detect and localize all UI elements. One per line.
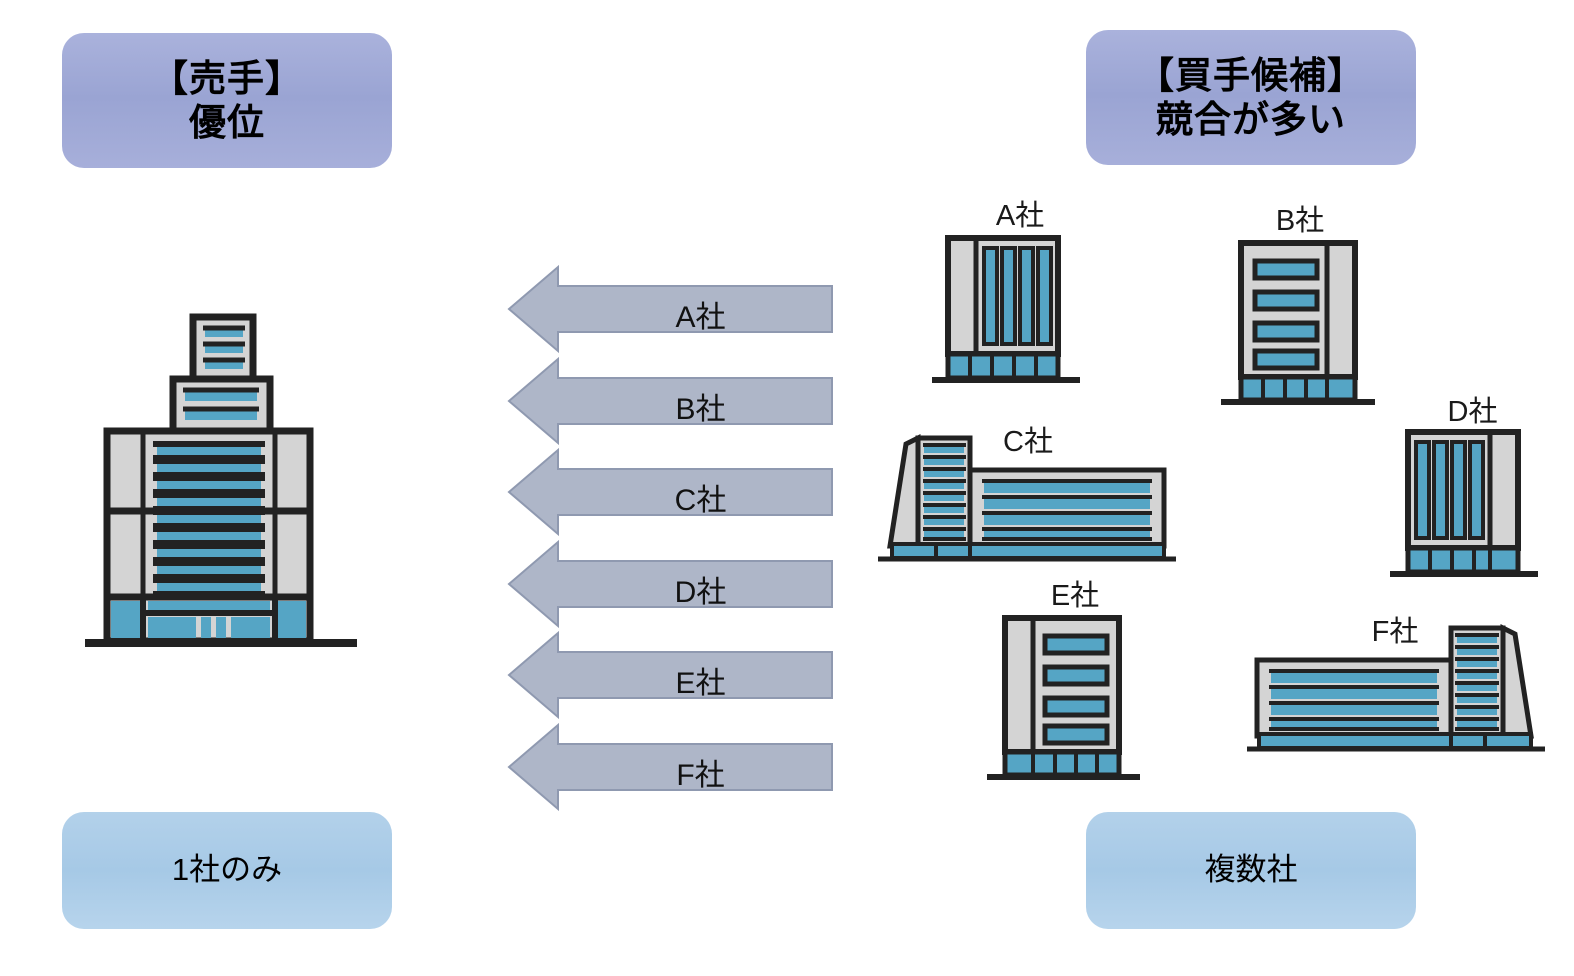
arrow-a: A社 xyxy=(508,266,833,352)
diagram-canvas: 【売手】 優位 【買手候補】 競合が多い 1社のみ 複数社 A社B社C社D社E社… xyxy=(0,0,1574,976)
buyer-building-e: E社 xyxy=(985,572,1165,787)
buyer-footer-box: 複数社 xyxy=(1086,812,1416,929)
arrow-e: E社 xyxy=(508,632,833,718)
seller-header-box: 【売手】 優位 xyxy=(62,33,392,168)
arrow-d: D社 xyxy=(508,541,833,627)
arrow-shape xyxy=(508,358,833,444)
seller-header-line1: 【売手】 xyxy=(151,58,303,99)
seller-footer-box: 1社のみ xyxy=(62,812,392,929)
buyer-building-b: B社 xyxy=(1205,197,1395,412)
arrow-f: F社 xyxy=(508,724,833,810)
office-block-horizontal-windows-icon xyxy=(1205,237,1395,412)
office-block-horizontal-windows-mirrored-icon xyxy=(985,612,1165,787)
arrow-shape xyxy=(508,449,833,535)
seller-footer-label: 1社のみ xyxy=(172,852,282,889)
skyscraper-icon xyxy=(85,305,375,695)
buyer-building-a-label: A社 xyxy=(930,192,1110,234)
buyer-header-box: 【買手候補】 競合が多い xyxy=(1086,30,1416,165)
buyer-header-line2: 競合が多い xyxy=(1137,98,1365,142)
arrow-shape xyxy=(508,724,833,810)
buyer-building-d: D社 xyxy=(1390,388,1555,578)
buyer-building-c: C社 xyxy=(878,418,1178,563)
arrow-b: B社 xyxy=(508,358,833,444)
buyer-building-f: F社 xyxy=(1245,608,1545,753)
buyer-header-line1: 【買手候補】 xyxy=(1137,55,1365,96)
office-complex-wide-left-tower-icon xyxy=(878,426,1178,561)
office-complex-wide-right-tower-icon xyxy=(1245,616,1545,751)
arrow-shape xyxy=(508,632,833,718)
arrow-shape xyxy=(508,541,833,627)
arrow-c: C社 xyxy=(508,449,833,535)
office-tower-vertical-windows-icon xyxy=(930,232,1110,392)
buyer-building-b-label: B社 xyxy=(1205,197,1395,239)
buyer-building-e-label: E社 xyxy=(985,572,1165,614)
office-tower-vertical-windows-mirrored-icon xyxy=(1390,426,1555,578)
buyer-footer-label: 複数社 xyxy=(1205,852,1298,889)
buyer-building-a: A社 xyxy=(930,192,1110,392)
buyer-building-d-label: D社 xyxy=(1390,388,1555,430)
seller-building xyxy=(85,305,375,695)
seller-header-line2: 優位 xyxy=(151,101,303,145)
arrow-shape xyxy=(508,266,833,352)
